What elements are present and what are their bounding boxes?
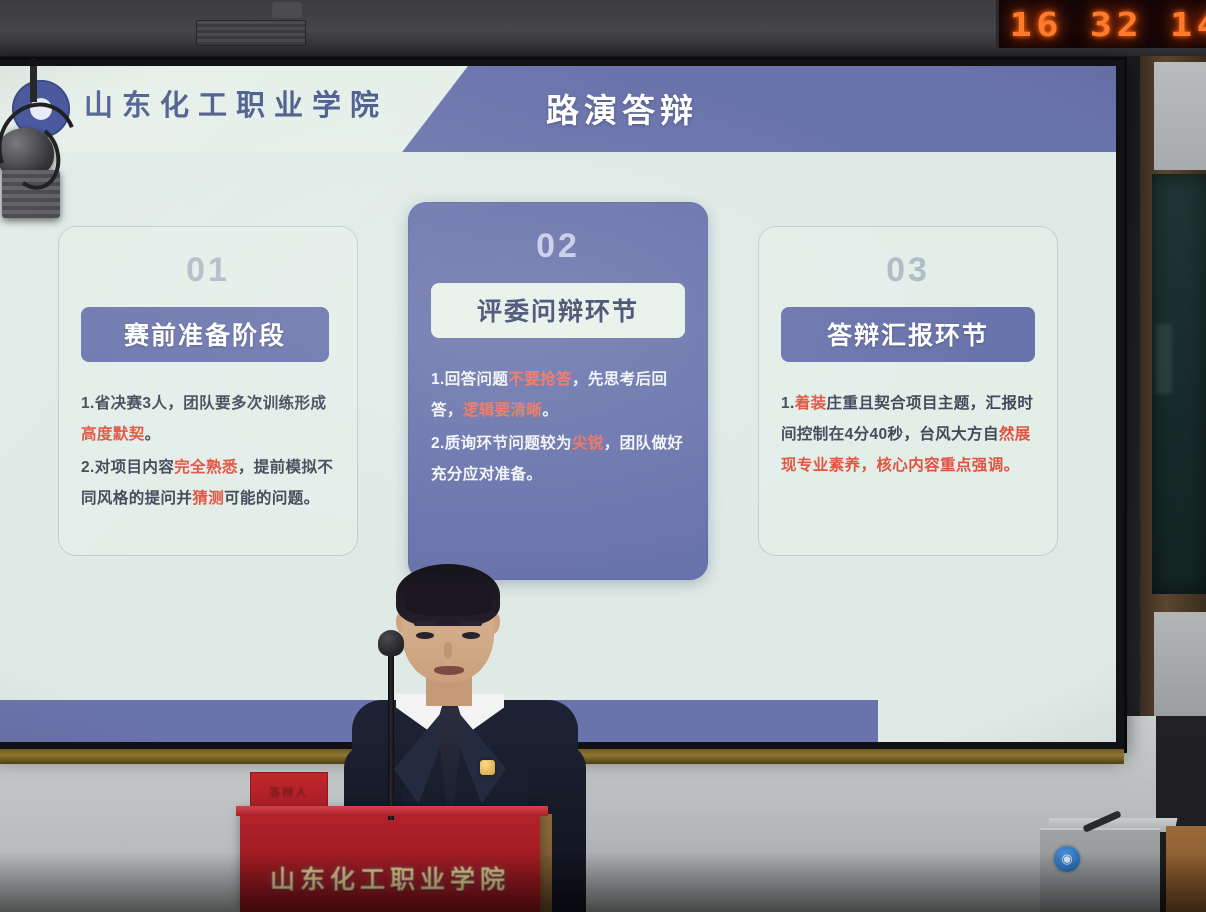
- card-body-02: 1.回答问题不要抢答，先思考后回答，逻辑要清晰。2.质询环节问题较为尖锐，团队做…: [431, 364, 685, 490]
- podium-front-text: 山东化工职业学院: [240, 860, 540, 896]
- wood-wall-panel: [1166, 826, 1206, 912]
- microphone-head-icon: [378, 630, 404, 656]
- cabinet-sticker-glyph: ◉: [1054, 846, 1080, 872]
- highlighted-text: 逻辑要清晰: [463, 402, 543, 419]
- projector-mount: [2, 58, 76, 178]
- podium: 山东化工职业学院: [240, 812, 540, 912]
- clock-time-display: 16 32 14: [1010, 5, 1206, 44]
- card-body-line: 2.质询环节问题较为尖锐，团队做好充分应对准备。: [431, 428, 685, 490]
- highlighted-text: 猜测: [192, 490, 224, 507]
- card-title-02: 评委问辩环节: [431, 283, 685, 338]
- presenter-eye-left: [416, 632, 434, 639]
- cabinet-sticker-icon: ◉: [1054, 846, 1080, 872]
- slide-card-01: 01 赛前准备阶段 1.省决赛3人，团队要多次训练形成高度默契。2.对项目内容完…: [58, 226, 358, 556]
- highlighted-text: 着装: [795, 395, 827, 412]
- card-title-01: 赛前准备阶段: [81, 307, 329, 362]
- slide-card-03: 03 答辩汇报环节 1.着装庄重且契合项目主题，汇报时间控制在4分40秒，台风大…: [758, 226, 1058, 556]
- presenter-mouth: [434, 666, 464, 675]
- ceiling-vent: [196, 20, 306, 46]
- body-text: 2.对项目内容: [81, 459, 174, 476]
- card-body-line: 1.着装庄重且契合项目主题，汇报时间控制在4分40秒，台风大方自然展现专业素养，…: [781, 388, 1035, 481]
- chalkboard-surface: [1152, 174, 1206, 594]
- led-wall-clock: 16 32 14: [996, 0, 1206, 48]
- wall-below-board: [1154, 612, 1206, 716]
- card-number-01: 01: [81, 253, 335, 287]
- card-number-02: 02: [431, 229, 685, 263]
- ceiling-sensor: [272, 2, 302, 18]
- highlighted-text: 不要抢答: [508, 371, 572, 388]
- slide-title: 路演答辩: [0, 84, 1116, 132]
- highlighted-text: 完全熟悉: [174, 459, 238, 476]
- microphone-stand: [388, 638, 394, 820]
- highlighted-text: 高度默契: [81, 426, 145, 443]
- wall-above-board: [1154, 62, 1206, 170]
- podium-top-edge: [236, 806, 548, 816]
- body-text: 1.: [781, 395, 795, 412]
- body-text: 可能的问题。: [224, 490, 319, 507]
- slide-card-02: 02 评委问辩环节 1.回答问题不要抢答，先思考后回答，逻辑要清晰。2.质询环节…: [408, 202, 708, 580]
- presenter-eye-right: [462, 632, 480, 639]
- card-body-line: 2.对项目内容完全熟悉，提前模拟不同风格的提问并猜测可能的问题。: [81, 452, 335, 514]
- presenter-lapel-badge: [480, 760, 495, 775]
- card-body-line: 1.回答问题不要抢答，先思考后回答，逻辑要清晰。: [431, 364, 685, 426]
- body-text: 。: [542, 402, 558, 419]
- card-body-03: 1.着装庄重且契合项目主题，汇报时间控制在4分40秒，台风大方自然展现专业素养，…: [781, 388, 1035, 481]
- presenter-eyebrow-right: [460, 622, 482, 626]
- card-number-03: 03: [781, 253, 1035, 287]
- card-body-01: 1.省决赛3人，团队要多次训练形成高度默契。2.对项目内容完全熟悉，提前模拟不同…: [81, 388, 335, 514]
- classroom-presentation-scene: 16 32 14 ✦ 山东化工职业学院 路演答辩 01: [0, 0, 1206, 912]
- chalkboard: [1140, 56, 1206, 716]
- presenter-nose: [444, 642, 452, 658]
- projector-arm: [30, 58, 37, 102]
- presenter-eyebrow-left: [414, 622, 436, 626]
- card-body-line: 1.省决赛3人，团队要多次训练形成高度默契。: [81, 388, 335, 450]
- body-text: 。: [145, 426, 161, 443]
- body-text: 1.省决赛3人，团队要多次训练形成: [81, 395, 326, 412]
- card-title-03: 答辩汇报环节: [781, 307, 1035, 362]
- highlighted-text: 尖锐: [572, 435, 604, 452]
- body-text: 1.回答问题: [431, 371, 508, 388]
- slide-header: ✦ 山东化工职业学院 路演答辩: [0, 66, 1116, 152]
- presenter-hair: [396, 564, 500, 626]
- body-text: 2.质询环节问题较为: [431, 435, 572, 452]
